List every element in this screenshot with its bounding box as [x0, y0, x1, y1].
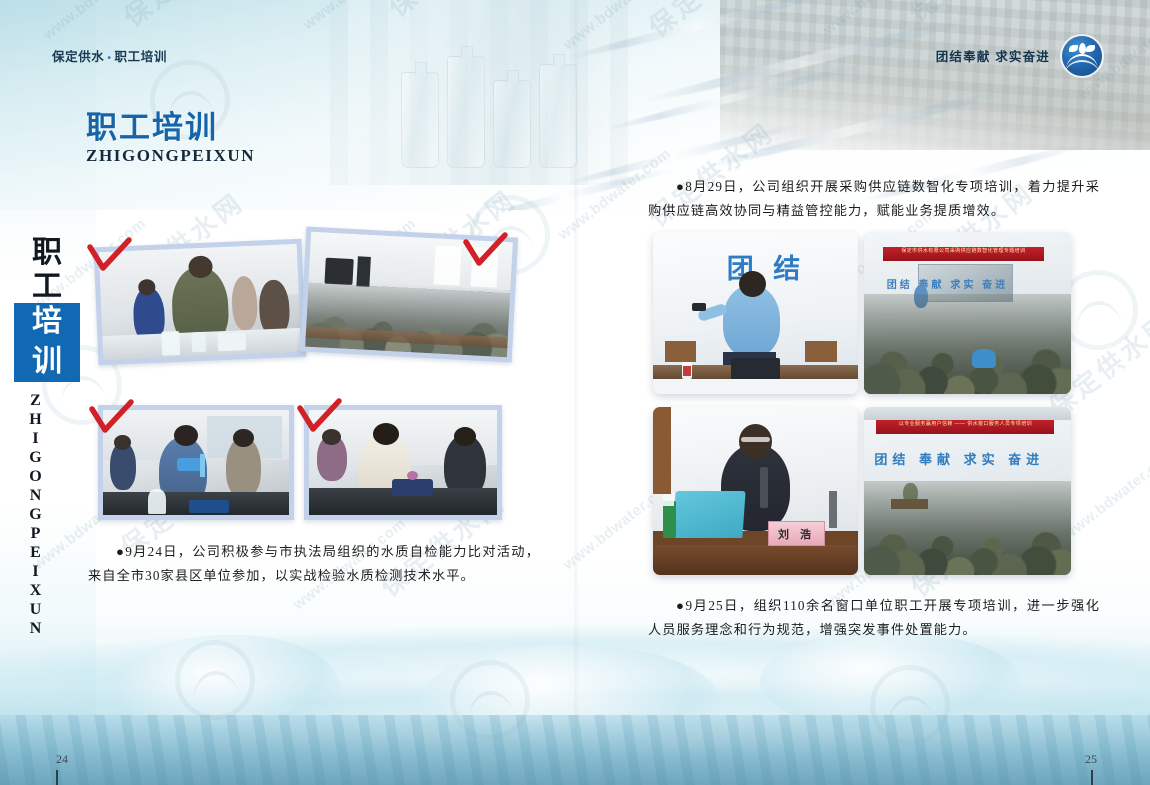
photo-speaker-laptop[interactable]: 刘 浩	[653, 407, 858, 575]
page-number-left: 24	[56, 750, 68, 785]
page-number-right-value: 25	[1085, 752, 1097, 766]
vtab-char-1: 职	[18, 236, 76, 270]
vtab-char-4: 训	[14, 343, 80, 383]
red-check-icon	[296, 398, 342, 438]
page-spine	[573, 0, 579, 785]
left-page-caption: ●9月24日，公司积极参与市执法局组织的水质自检能力比对活动，来自全市30家县区…	[88, 540, 540, 589]
page-number-left-value: 24	[56, 752, 68, 766]
event-banner-text: 保定市供水有限公司采购供应链数智化管理专题培训	[883, 247, 1044, 262]
page-number-right: 25	[1085, 750, 1097, 785]
speaker-nameplate: 刘 浩	[768, 521, 825, 546]
wall-slogan-text: 团结 奉献 求实 奋进	[874, 449, 1044, 468]
section-title-cn: 职工培训	[86, 112, 255, 143]
vtab-char-3: 培	[14, 303, 80, 343]
photo-training-hall[interactable]: 以专业服务赢用户信赖 —— 供水窗口服务人员专项培训 团结 奉献 求实 奋进	[864, 407, 1071, 575]
company-motto: 团结奉献 求实奋进	[936, 46, 1050, 65]
red-check-icon	[86, 237, 132, 277]
watermark-url: www.bdwater.com	[1060, 445, 1150, 543]
photo-lecturer-presenting[interactable]: 团 结	[653, 232, 858, 394]
vertical-section-tab: 职 工 培 训 ZHIGONGPEIXUN	[18, 236, 84, 639]
section-title: 职工培训 ZHIGONGPEIXUN	[86, 112, 255, 166]
section-title-en: ZHIGONGPEIXUN	[86, 146, 255, 166]
breadcrumb-separator: •	[107, 53, 111, 64]
wall-slogan-text: 团结 奉献 求实 奋进	[887, 276, 1008, 291]
red-check-icon	[88, 399, 134, 439]
breadcrumb: 保定供水•职工培训	[52, 46, 167, 65]
vtab-pinyin: ZHIGONGPEIXUN	[26, 392, 44, 639]
vtab-char-2: 工	[18, 270, 76, 304]
right-page-caption-top: ●8月29日，公司组织开展采购供应链数智化专项培训，着力提升采购供应链高效协同与…	[648, 175, 1100, 224]
event-banner-text: 以专业服务赢用户信赖 —— 供水窗口服务人员专项培训	[876, 420, 1054, 433]
company-logo-icon	[1062, 36, 1102, 76]
red-check-icon	[462, 232, 508, 272]
photo-auditorium-audience[interactable]: 保定市供水有限公司采购供应链数智化管理专题培训 团结 奉献 求实 奋进	[864, 232, 1071, 394]
breadcrumb-company: 保定供水	[52, 50, 104, 64]
breadcrumb-section: 职工培训	[115, 50, 167, 64]
right-page-caption-bottom: ●9月25日，组织110余名窗口单位职工开展专项培训，进一步强化人员服务理念和行…	[648, 594, 1100, 643]
brochure-spread: 保定供水•职工培训 团结奉献 求实奋进 职工培训 ZHIGONGPEIXUN 职…	[0, 0, 1150, 785]
